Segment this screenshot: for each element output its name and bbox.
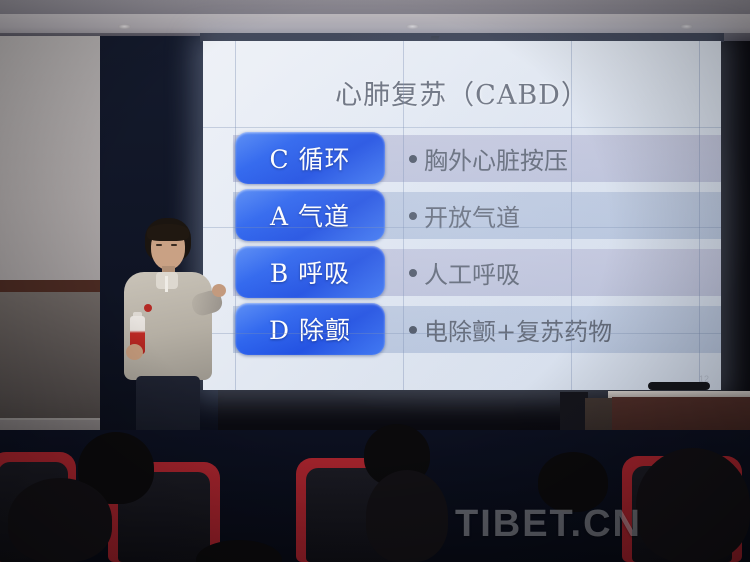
panel-seam xyxy=(571,41,572,390)
table-row: D 除颤 电除颤+复苏药物 xyxy=(203,301,721,358)
row-tag-label: C 循环 xyxy=(269,140,350,176)
audience-head xyxy=(366,470,448,562)
audience-head xyxy=(636,448,750,562)
microphone-bar-icon xyxy=(648,382,710,390)
presenter-eye xyxy=(171,244,177,246)
row-tag-label: D 除颤 xyxy=(269,311,351,347)
panel-seam xyxy=(203,227,721,228)
row-description: 人工呼吸 xyxy=(409,244,520,301)
panel-seam xyxy=(203,127,721,128)
table-row: B 呼吸 人工呼吸 xyxy=(203,244,721,301)
row-description-text: 胸外心脏按压 xyxy=(424,141,568,176)
row-tag-badge: D 除颤 xyxy=(235,303,385,355)
cabd-row-list: C 循环 胸外心脏按压 A 气道 开放气道 xyxy=(203,130,721,358)
slide-title: 心肺复苏（CABD） xyxy=(203,73,721,112)
presenter xyxy=(112,218,224,443)
bullet-icon xyxy=(409,269,417,277)
row-description: 电除颤+复苏药物 xyxy=(409,301,612,358)
row-description-text: 电除颤+复苏药物 xyxy=(424,312,612,347)
presenter-eye xyxy=(156,244,162,246)
row-tag-label: B 呼吸 xyxy=(270,254,350,290)
presenter-right-hand xyxy=(212,284,226,297)
photo-scene: 心肺复苏（CABD） C 循环 胸外心脏按压 A 气道 xyxy=(0,0,750,562)
row-tag-badge: A 气道 xyxy=(235,189,385,241)
presenter-zipper xyxy=(165,276,168,292)
table-row: C 循环 胸外心脏按压 xyxy=(203,130,721,187)
audience-head xyxy=(8,478,112,562)
downlight-icon xyxy=(118,24,131,29)
downlight-icon xyxy=(680,24,693,29)
panel-seam xyxy=(235,41,236,390)
slide-content: 心肺复苏（CABD） C 循环 胸外心脏按压 A 气道 xyxy=(203,41,721,390)
panel-seam xyxy=(403,41,404,390)
downlight-icon xyxy=(406,24,419,29)
row-tag-badge: B 呼吸 xyxy=(235,246,385,298)
panel-seam xyxy=(699,41,700,390)
row-description: 开放气道 xyxy=(409,187,520,244)
bullet-icon xyxy=(409,212,417,220)
projection-screen: 心肺复苏（CABD） C 循环 胸外心脏按压 A 气道 xyxy=(203,41,721,390)
presenter-left-hand xyxy=(126,344,143,360)
row-description-text: 人工呼吸 xyxy=(424,255,520,290)
row-tag-badge: C 循环 xyxy=(235,132,385,184)
row-description: 胸外心脏按压 xyxy=(409,130,568,187)
panel-seam xyxy=(203,333,721,334)
bullet-icon xyxy=(409,155,417,163)
presenter-badge-icon xyxy=(144,304,152,312)
presenter-fringe xyxy=(147,224,189,241)
table-row: A 气道 开放气道 xyxy=(203,187,721,244)
audience-head xyxy=(538,452,608,512)
